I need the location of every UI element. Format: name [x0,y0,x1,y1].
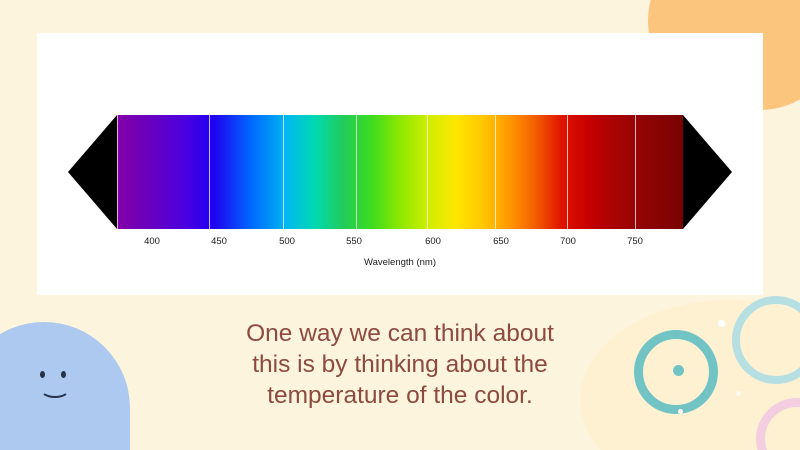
teal-ring-large-icon [634,330,718,414]
axis-tick-700: 700 [560,236,576,247]
axis-tick-650: 650 [493,236,509,247]
caption-line: temperature of the color. [178,380,622,411]
blue-blob-character-icon [0,322,130,450]
white-dot-icon [678,409,683,414]
band-divider [427,115,428,229]
teal-dot-icon [673,365,684,376]
axis-title: Wavelength (nm) [37,257,763,268]
axis-tick-550: 550 [346,236,362,247]
spectrum-image-card: Unltra VioletViolet 400-450 nmBlue 450-5… [37,33,763,295]
white-dot-icon [718,320,725,327]
character-smile-icon [40,380,70,398]
caption-line: this is by thinking about the [178,349,622,380]
band-divider [356,115,357,229]
ultraviolet-arrow-icon [68,115,117,229]
band-divider [567,115,568,229]
axis-tick-500: 500 [279,236,295,247]
band-divider [117,115,118,229]
axis-tick-400: 400 [144,236,160,247]
band-divider [495,115,496,229]
axis-tick-750: 750 [627,236,643,247]
slide-caption: One way we can think aboutthis is by thi… [178,318,622,411]
white-dot-icon [736,391,741,396]
pink-ring-icon [756,398,800,450]
visible-spectrum-chart: Unltra VioletViolet 400-450 nmBlue 450-5… [37,33,763,295]
band-divider [283,115,284,229]
slide-canvas: Unltra VioletViolet 400-450 nmBlue 450-5… [0,0,800,450]
axis-tick-600: 600 [425,236,441,247]
character-left-eye-icon [40,371,45,378]
caption-line: One way we can think about [178,318,622,349]
infrared-arrow-icon [683,115,732,229]
spectrum-bar-row [68,115,732,229]
axis-tick-450: 450 [211,236,227,247]
band-divider [635,115,636,229]
teal-ring-small-icon [732,296,800,384]
spectrum-gradient-bar [117,115,683,229]
character-right-eye-icon [61,371,66,378]
band-divider [209,115,210,229]
